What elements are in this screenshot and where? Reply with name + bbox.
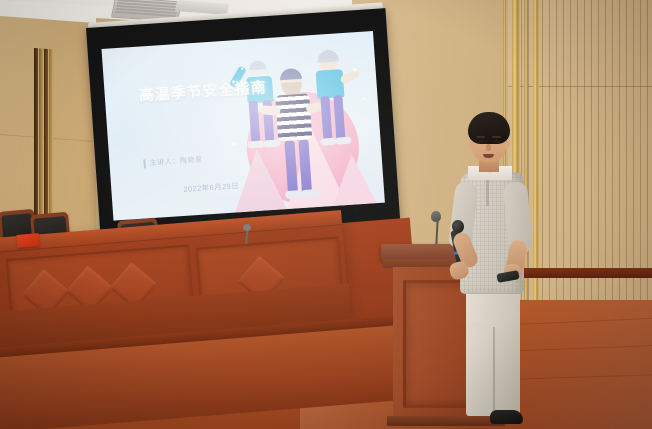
sparkle-icon xyxy=(241,68,243,70)
sparkle-icon xyxy=(364,98,366,100)
shirt-placket xyxy=(486,176,489,206)
projection-screen-surface: 高温季节安全指南 主讲人：陶艳星 2022年6月29日 xyxy=(102,31,385,221)
illustration-triangle xyxy=(330,153,377,206)
presenter-hair xyxy=(468,112,510,144)
presenter-eyebrow xyxy=(492,136,501,138)
red-name-card xyxy=(16,233,39,248)
presenter-shoe xyxy=(490,410,523,424)
trouser-seam xyxy=(493,327,495,417)
presenter-nose xyxy=(486,144,491,151)
illustration-triangle xyxy=(231,147,287,212)
projection-screen-frame: 高温季节安全指南 主讲人：陶艳星 2022年6月29日 xyxy=(86,8,400,242)
presenter-eye xyxy=(493,140,500,143)
slide-illustration xyxy=(220,41,381,213)
presenter-eye xyxy=(477,140,484,143)
photo-canvas: 高温季节安全指南 主讲人：陶艳星 2022年6月29日 xyxy=(0,0,652,429)
presenter xyxy=(438,112,543,429)
sparkle-icon xyxy=(232,142,236,146)
presenter-eyebrow xyxy=(476,136,485,138)
slide-presenter-line: 主讲人：陶艳星 xyxy=(149,155,203,169)
